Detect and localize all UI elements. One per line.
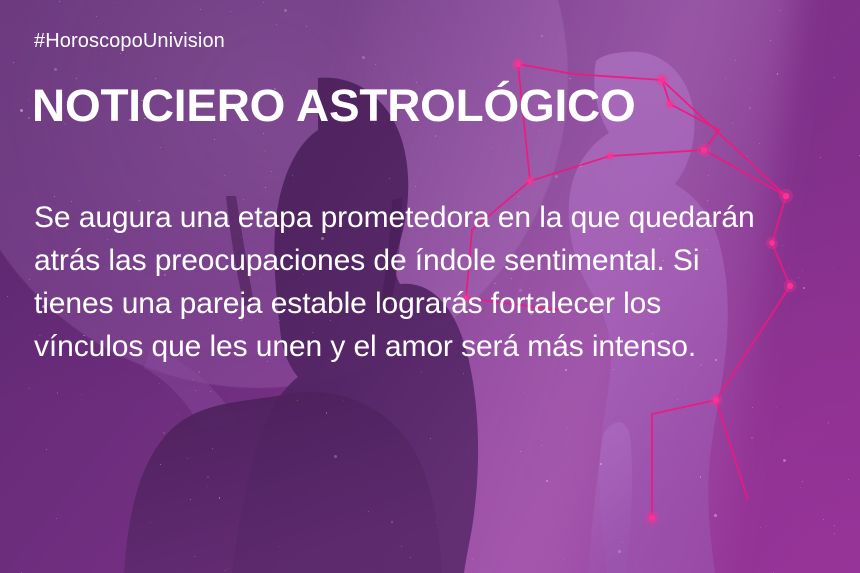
body-line: tienes una pareja estable lograrás forta… <box>34 282 794 325</box>
body-line: atrás las preocupaciones de índole senti… <box>34 239 794 282</box>
horoscope-card: #HoroscopoUnivision NOTICIERO ASTROLÓGIC… <box>0 0 860 573</box>
content-layer: #HoroscopoUnivision NOTICIERO ASTROLÓGIC… <box>0 0 860 573</box>
body-line: Se augura una etapa prometedora en la qu… <box>34 196 794 239</box>
page-title: NOTICIERO ASTROLÓGICO <box>32 82 635 130</box>
horoscope-body-text: Se augura una etapa prometedora en la qu… <box>34 196 794 368</box>
body-line: vínculos que les unen y el amor será más… <box>34 325 794 368</box>
hashtag-label: #HoroscopoUnivision <box>34 30 225 53</box>
